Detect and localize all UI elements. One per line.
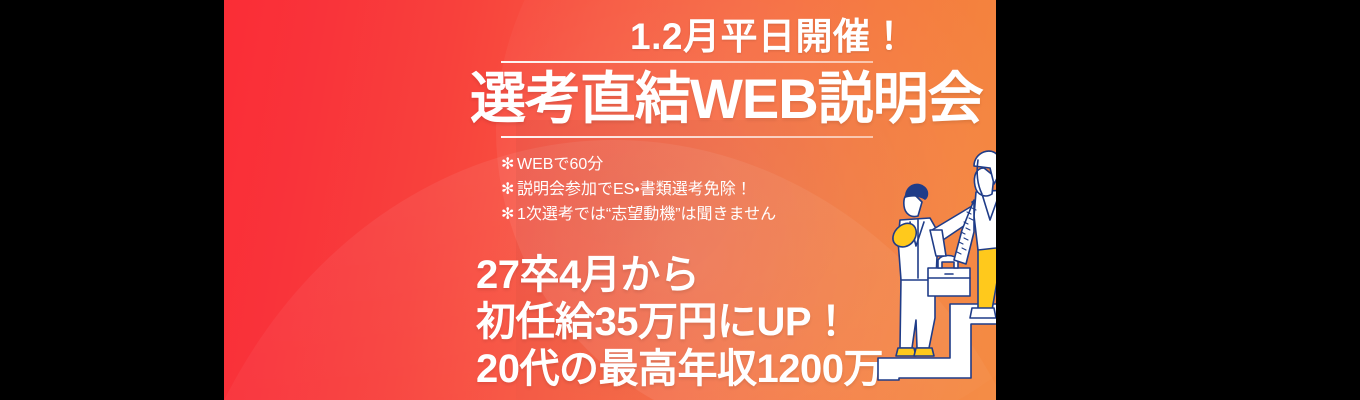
letterbox-left bbox=[0, 0, 224, 400]
asterisk-icon: ✻ bbox=[501, 152, 517, 177]
salary-line-1: 27卒4月から bbox=[476, 252, 883, 299]
salary-highlight-copy: 27卒4月から 初任給35万円にUP！ 20代の最高年収1200万 bbox=[476, 252, 883, 393]
list-item: ✻ 説明会参加でES・書類選考免除！ bbox=[501, 177, 776, 202]
headline-rule-bottom bbox=[501, 136, 873, 138]
climbing-arrow-illustration bbox=[872, 80, 996, 400]
list-item-label: WEBで60分 bbox=[517, 152, 603, 177]
list-item: ✻ WEBで60分 bbox=[501, 152, 776, 177]
list-item-label: 1次選考では“志望動機”は聞きません bbox=[517, 202, 776, 227]
asterisk-icon: ✻ bbox=[501, 202, 517, 227]
event-schedule-kicker: 1.2月平日開催！ bbox=[554, 6, 984, 60]
salary-line-3: 20代の最高年収1200万 bbox=[476, 346, 883, 393]
recruitment-banner[interactable]: 1.2月平日開催！ 選考直結WEB説明会 ✻ WEBで60分 ✻ 説明会参加でE… bbox=[224, 0, 996, 400]
salary-line-2: 初任給35万円にUP！ bbox=[476, 299, 883, 346]
headline-rule-top bbox=[501, 61, 873, 63]
letterbox-right bbox=[996, 0, 1360, 400]
list-item: ✻ 1次選考では“志望動機”は聞きません bbox=[501, 202, 776, 227]
list-item-label: 説明会参加でES・書類選考免除！ bbox=[517, 177, 752, 202]
asterisk-icon: ✻ bbox=[501, 177, 517, 202]
screenshot-stage: 1.2月平日開催！ 選考直結WEB説明会 ✻ WEBで60分 ✻ 説明会参加でE… bbox=[0, 0, 1360, 400]
feature-bullet-list: ✻ WEBで60分 ✻ 説明会参加でES・書類選考免除！ ✻ 1次選考では“志望… bbox=[501, 152, 776, 227]
